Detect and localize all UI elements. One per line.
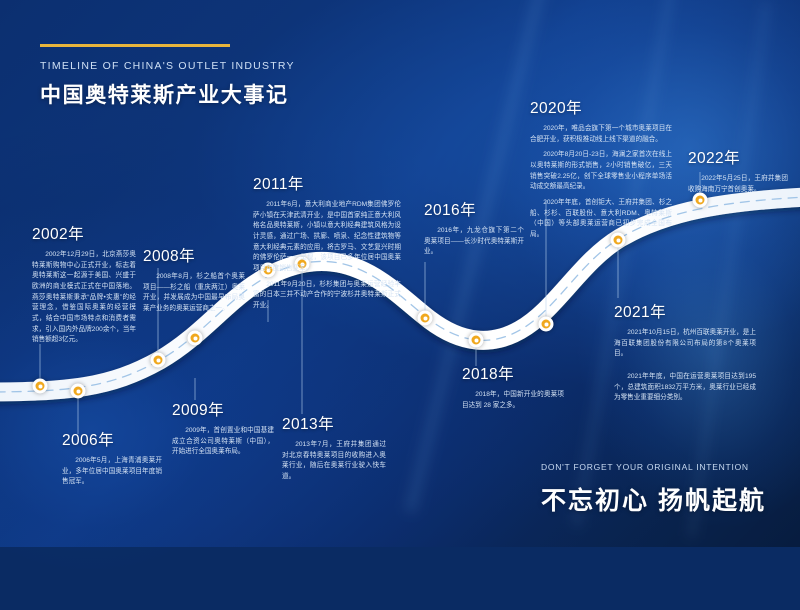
timeline-node-2018[interactable] (469, 333, 484, 348)
entry-paragraph: 2006年5月，上海青浦奥莱开业，多年位居中国奥莱项目年度销售冠军。 (62, 456, 162, 488)
entry-paragraph: 2021年10月15日，杭州百联奥莱开业，是上海百联集团股份有限公司布局的第8个… (614, 328, 756, 360)
timeline-node-2016[interactable] (418, 311, 433, 326)
timeline-entry-2022: 2022年 2022年5月25日，王府井集团收购海南万宁首创奥莱。 (688, 146, 788, 195)
entry-paragraph: 2016年，九龙仓旗下第二个奥莱项目——长沙时代奥特莱斯开业。 (424, 226, 524, 258)
timeline-entry-2008: 2008年 2008年8月，杉之船首个奥莱项目——杉之船（重庆两江）奥莱开业，并… (143, 244, 245, 315)
timeline-node-2020[interactable] (539, 317, 554, 332)
timeline-entry-2020: 2020年 2020年，唯品会旗下第一个城市奥莱项目在合肥开业，获积极推动线上线… (530, 96, 672, 241)
entry-paragraph: 2020年8月20日-23日，海澜之家首次在线上以奥特莱斯的形式销售，2小时销售… (530, 150, 672, 193)
entry-year-2011: 2011年 (253, 172, 401, 194)
entry-paragraph: 2008年8月，杉之船首个奥莱项目——杉之船（重庆两江）奥莱开业，并发展成为中国… (143, 272, 245, 315)
entry-paragraph: 2020年，唯品会旗下第一个城市奥莱项目在合肥开业，获积极推动线上线下渠道的融合… (530, 124, 672, 145)
entry-paragraph: 2022年5月25日，王府井集团收购海南万宁首创奥莱。 (688, 174, 788, 195)
entry-year-2020: 2020年 (530, 96, 672, 118)
timeline-entry-2013: 2013年 2013年7月，王府井集团通过对北京春特奥莱项目的收购进入奥莱行业，… (282, 412, 386, 483)
entry-paragraph: 2018年，中国新开业的奥莱项目达到 28 家之多。 (462, 390, 564, 411)
timeline-node-2009[interactable] (188, 331, 203, 346)
entry-year-2021: 2021年 (614, 300, 756, 322)
entry-year-2008: 2008年 (143, 244, 245, 266)
timeline-entry-2002: 2002年 2002年12月29日，北京燕莎奥特莱斯购物中心正式开业，标志着奥特… (32, 222, 136, 346)
timeline-entry-2009: 2009年 2009年，首创置业和中国基建成立合资公司奥特莱斯（中国），开始进行… (172, 398, 274, 458)
timeline-node-2002[interactable] (33, 379, 48, 394)
slogan-chinese: 不忘初心 扬帆起航 (541, 481, 766, 517)
entry-paragraph: 2021年年底，中国在运营奥莱项目达到195个，总建筑面积1832万平方米，奥莱… (614, 372, 756, 404)
timeline-node-2006[interactable] (71, 384, 86, 399)
footer-slogan: DON'T FORGET YOUR ORIGINAL INTENTION 不忘初… (541, 462, 766, 517)
timeline-entry-2021: 2021年 2021年10月15日，杭州百联奥莱开业，是上海百联集团股份有限公司… (614, 300, 756, 404)
timeline-entry-2011: 2011年 2011年6月，意大利商业地产RDM集团佛罗伦萨小镇在天津武清开业，… (253, 172, 401, 312)
leader-line-2009 (195, 378, 196, 400)
entry-paragraph: 2011年9月20日，杉杉集团与奥莱运营经验丰富的日本三井不动产合作的宁波杉井奥… (253, 280, 401, 312)
entry-year-2002: 2002年 (32, 222, 136, 244)
entry-year-2018: 2018年 (462, 362, 564, 384)
entry-year-2009: 2009年 (172, 398, 274, 420)
entry-paragraph: 2013年7月，王府井集团通过对北京春特奥莱项目的收购进入奥莱行业，随后在奥莱行… (282, 440, 386, 483)
timeline-node-2008[interactable] (151, 353, 166, 368)
timeline-entry-2006: 2006年 2006年5月，上海青浦奥莱开业，多年位居中国奥莱项目年度销售冠军。 (62, 428, 162, 488)
entry-year-2013: 2013年 (282, 412, 386, 434)
entry-year-2022: 2022年 (688, 146, 788, 168)
entry-paragraph: 2002年12月29日，北京燕莎奥特莱斯购物中心正式开业，标志着奥特莱斯这一起源… (32, 250, 136, 346)
timeline-entry-2016: 2016年 2016年，九龙仓旗下第二个奥莱项目——长沙时代奥特莱斯开业。 (424, 198, 524, 258)
entry-paragraph: 2009年，首创置业和中国基建成立合资公司奥特莱斯（中国），开始进行全国奥莱布局… (172, 426, 274, 458)
slogan-english: DON'T FORGET YOUR ORIGINAL INTENTION (541, 462, 766, 472)
timeline-entry-2018: 2018年 2018年，中国新开业的奥莱项目达到 28 家之多。 (462, 362, 564, 411)
entry-paragraph: 2011年6月，意大利商业地产RDM集团佛罗伦萨小镇在天津武清开业，是中国首家纯… (253, 200, 401, 275)
entry-year-2016: 2016年 (424, 198, 524, 220)
entry-year-2006: 2006年 (62, 428, 162, 450)
entry-paragraph: 2020年年底，首创钜大、王府井集团、杉之船、杉杉、百联股份、意大利RDM、奥特… (530, 198, 672, 241)
leader-line-2021 (618, 240, 619, 298)
